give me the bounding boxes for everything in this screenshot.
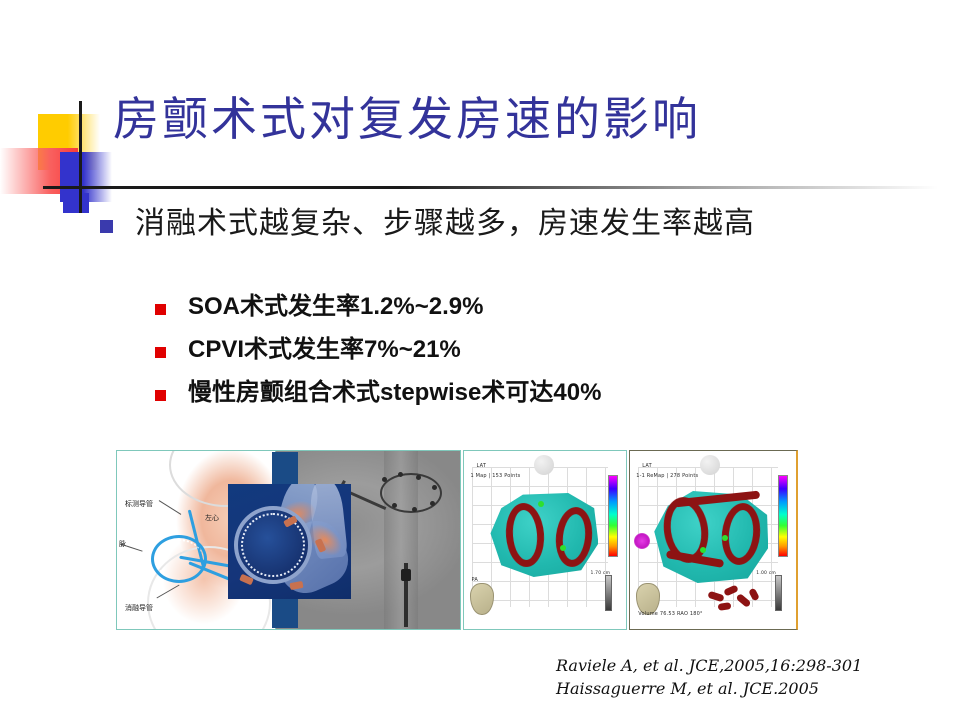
square-bullet-icon	[155, 347, 166, 358]
electrode-dot-icon	[432, 485, 437, 490]
carto-map-type-label: LAT	[476, 463, 486, 469]
citation-line-1: Raviele A, et al. JCE,2005,16:298-301	[556, 654, 862, 677]
list-item: SOA术式发生率1.2%~2.9%	[155, 293, 855, 322]
color-scale-bar	[608, 475, 618, 557]
lasso-catheter-icon	[380, 473, 442, 513]
electrode-dot-icon	[382, 477, 387, 482]
page-title: 房颤术式对复发房速的影响	[113, 96, 701, 142]
ablation-point-cluster	[718, 602, 732, 611]
sub-bullet-list: SOA术式发生率1.2%~2.9% CPVI术式发生率7%~21% 慢性房颤组合…	[155, 293, 855, 421]
square-bullet-icon	[155, 390, 166, 401]
figure-panel-carto-soa: LAT 1 Map | 153 Points PA 1.70 cm	[463, 450, 627, 630]
carto-scale-label: 1.70 cm	[590, 571, 610, 576]
carto-points-label: 1 Map | 153 Points	[470, 473, 520, 479]
color-scale-bar	[778, 475, 788, 557]
carto-scale-label: 1.00 cm	[756, 571, 776, 576]
distance-scale-bar	[605, 575, 612, 611]
carto-canvas: LAT 1-1 ReMap | 278 Points Volume 76.53 …	[630, 451, 796, 629]
label-ablation-catheter: 消融导管	[125, 603, 153, 613]
electrode-dot-icon	[416, 475, 421, 480]
decoration-blue-small-square	[63, 193, 89, 213]
distance-scale-bar	[775, 575, 782, 611]
sub-bullet-label-stepwise: 慢性房颤组合术式stepwise术可达40%	[188, 379, 601, 408]
main-bullet-label: 消融术式越复杂、步骤越多，房速发生率越高	[135, 203, 755, 246]
square-bullet-icon	[155, 304, 166, 315]
figure-strip: 标测导管 消融导管 左心 脉	[116, 450, 798, 630]
electrode-dot-icon	[430, 501, 435, 506]
title-underline-rule	[43, 186, 938, 189]
label-vein: 脉	[119, 539, 126, 549]
carto-points-label: 1-1 ReMap | 278 Points	[636, 473, 698, 479]
label-mapping-catheter: 标测导管	[125, 499, 153, 509]
carto-map-type-label: LAT	[642, 463, 652, 469]
citation-block: Raviele A, et al. JCE,2005,16:298-301 Ha…	[556, 654, 862, 700]
sub-bullet-label-cpvi: CPVI术式发生率7%~21%	[188, 336, 461, 365]
carto-view-label: PA	[471, 577, 478, 583]
decoration-vertical-line	[79, 101, 82, 213]
electrode-dot-icon	[392, 503, 397, 508]
electrode-dot-icon	[398, 472, 403, 477]
vein-ostium-ring	[234, 506, 312, 584]
main-bullet-item: 消融术式越复杂、步骤越多，房速发生率越高	[100, 203, 820, 246]
figure-inset-pv-ostium	[228, 484, 351, 599]
carto-canvas: LAT 1 Map | 153 Points PA 1.70 cm	[464, 451, 626, 629]
list-item: 慢性房颤组合术式stepwise术可达40%	[155, 379, 855, 408]
pacing-lead-icon	[404, 563, 408, 627]
carto-volume-label: Volume 76.53 RAO 180°	[638, 611, 702, 617]
square-bullet-icon	[100, 220, 113, 233]
citation-line-2: Haissaguerre M, et al. JCE.2005	[556, 677, 862, 700]
slide-canvas: 房颤术式对复发房速的影响 消融术式越复杂、步骤越多，房速发生率越高 SOA术式发…	[0, 0, 960, 720]
sub-bullet-label-soa: SOA术式发生率1.2%~2.9%	[188, 293, 483, 322]
list-item: CPVI术式发生率7%~21%	[155, 336, 855, 365]
heart-orientation-icon	[470, 583, 494, 615]
figure-panel-carto-stepwise: LAT 1-1 ReMap | 278 Points Volume 76.53 …	[629, 450, 798, 630]
label-left-atrium: 左心	[205, 513, 219, 523]
electrode-dot-icon	[412, 507, 417, 512]
